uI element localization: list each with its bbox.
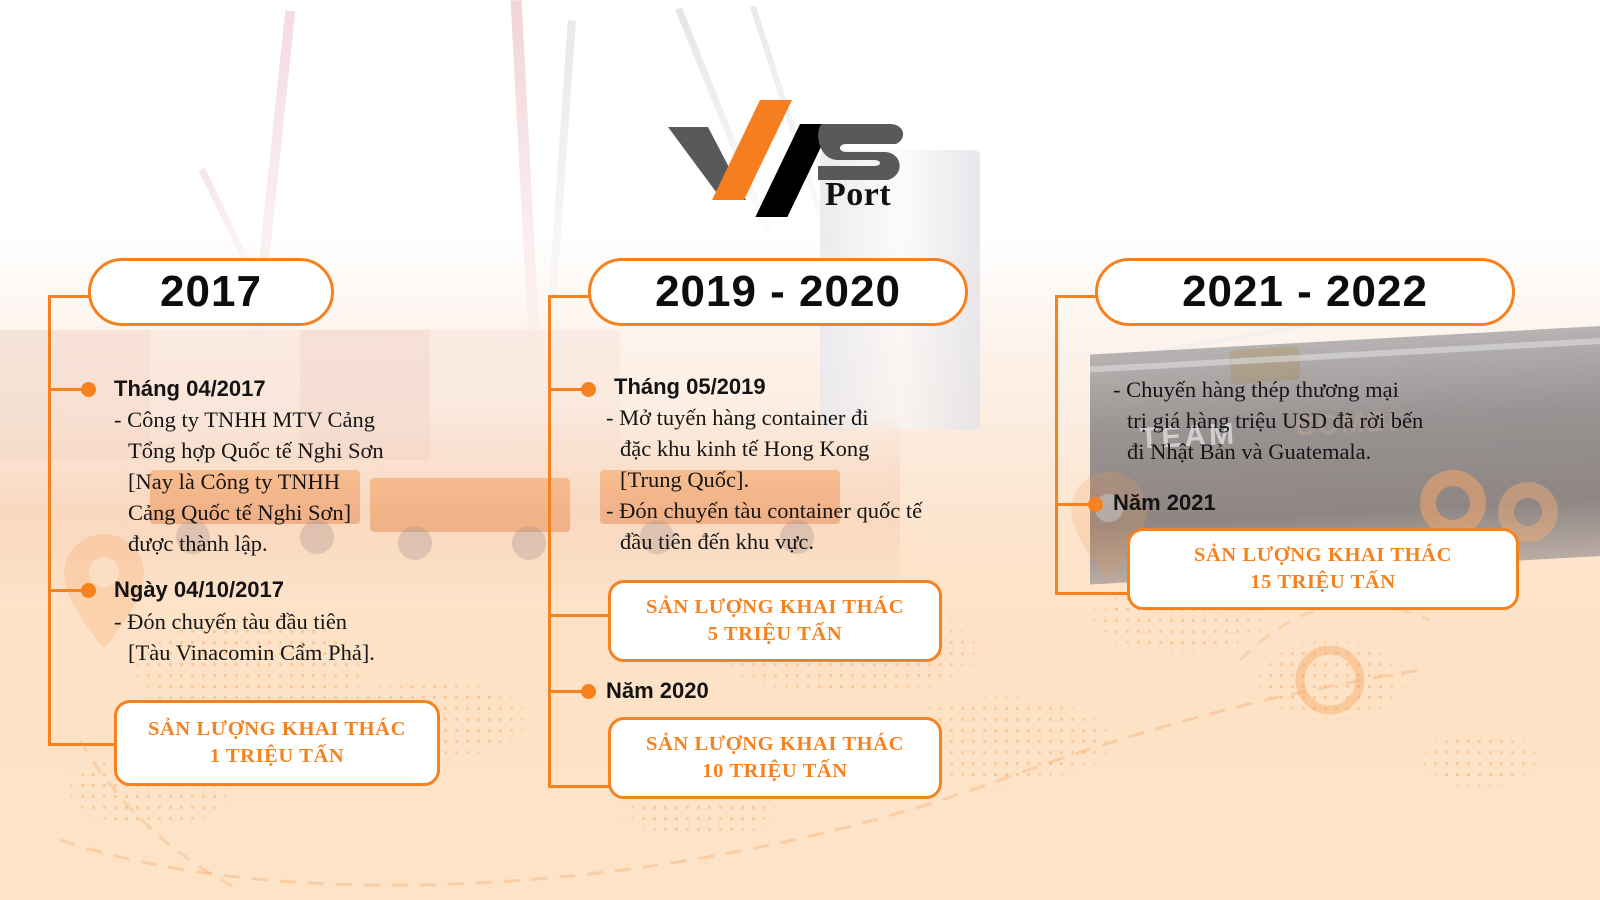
item-body: - Đón chuyến tàu đầu tiên [Tàu Vinacomin… (114, 606, 514, 668)
bullet-dot (81, 583, 96, 598)
connector-line (1055, 592, 1135, 595)
year-label: 2017 (160, 267, 262, 317)
item-body: - Công ty TNHH MTV Cảng Tổng hợp Quốc tế… (114, 404, 514, 559)
year-badge-2019-2020[interactable]: 2019 - 2020 (588, 258, 968, 326)
production-label: SẢN LƯỢNG KHAI THÁC (148, 716, 406, 743)
production-badge[interactable]: SẢN LƯỢNG KHAI THÁC 15 TRIỆU TẤN (1127, 528, 1519, 610)
production-value: 1 TRIỆU TẤN (210, 743, 345, 770)
item-line: đi Nhật Bản và Guatemala. (1113, 436, 1563, 467)
item-body: - Chuyến hàng thép thương mại trị giá hà… (1113, 374, 1563, 467)
production-value: 10 TRIỆU TẤN (702, 758, 847, 785)
item-line: Cảng Quốc tế Nghi Sơn] (114, 497, 514, 528)
infographic-canvas: TEAM COMBI Port 2017 (0, 0, 1600, 900)
item-line: [Trung Quốc]. (606, 464, 1036, 495)
item-line: - Đón chuyến tàu container quốc tế (606, 495, 1036, 526)
bullet-dot (1088, 497, 1103, 512)
production-value: 5 TRIỆU TẤN (708, 621, 843, 648)
item-line: - Đón chuyến tàu đầu tiên (114, 606, 514, 637)
item-line: - Công ty TNHH MTV Cảng (114, 404, 514, 435)
bullet-dot (581, 382, 596, 397)
item-title: Tháng 04/2017 (114, 376, 266, 402)
item-line: được thành lập. (114, 528, 514, 559)
production-label: SẢN LƯỢNG KHAI THÁC (646, 594, 904, 621)
logo-subtitle: Port (825, 176, 891, 214)
tyre-shape (1420, 470, 1486, 536)
connector-line (548, 785, 612, 788)
item-line: đặc khu kinh tế Hong Kong (606, 433, 1036, 464)
wheel-shape (512, 526, 546, 560)
item-title: Tháng 05/2019 (614, 374, 766, 400)
timeline-spine (48, 295, 51, 746)
bullet-dot (81, 382, 96, 397)
item-line: [Tàu Vinacomin Cẩm Phả]. (114, 637, 514, 668)
year-badge-2017[interactable]: 2017 (88, 258, 334, 326)
item-body: - Mở tuyến hàng container đi đặc khu kin… (606, 402, 1036, 557)
production-badge[interactable]: SẢN LƯỢNG KHAI THÁC 1 TRIỆU TẤN (114, 700, 440, 786)
item-line: đầu tiên đến khu vực. (606, 526, 1036, 557)
year-label: 2019 - 2020 (655, 267, 901, 317)
item-title: Ngày 04/10/2017 (114, 577, 284, 603)
production-label: SẢN LƯỢNG KHAI THÁC (646, 731, 904, 758)
item-title: Năm 2021 (1113, 490, 1216, 516)
timeline-spine (548, 295, 551, 786)
production-label: SẢN LƯỢNG KHAI THÁC (1194, 542, 1452, 569)
timeline-spine (1055, 295, 1058, 595)
connector-line (548, 614, 612, 617)
year-badge-2021-2022[interactable]: 2021 - 2022 (1095, 258, 1515, 326)
item-title: Năm 2020 (606, 678, 709, 704)
item-line: - Chuyến hàng thép thương mại (1113, 374, 1563, 405)
item-line: [Nay là Công ty TNHH (114, 466, 514, 497)
item-line: - Mở tuyến hàng container đi (606, 402, 1036, 433)
item-line: Tổng hợp Quốc tế Nghi Sơn (114, 435, 514, 466)
production-value: 15 TRIỆU TẤN (1250, 569, 1395, 596)
production-badge[interactable]: SẢN LƯỢNG KHAI THÁC 10 TRIỆU TẤN (608, 717, 942, 799)
crane-tower-icon (511, 0, 541, 360)
production-badge[interactable]: SẢN LƯỢNG KHAI THÁC 5 TRIỆU TẤN (608, 580, 942, 662)
bullet-dot (581, 684, 596, 699)
item-line: trị giá hàng triệu USD đã rời bến (1113, 405, 1563, 436)
year-label: 2021 - 2022 (1182, 267, 1428, 317)
